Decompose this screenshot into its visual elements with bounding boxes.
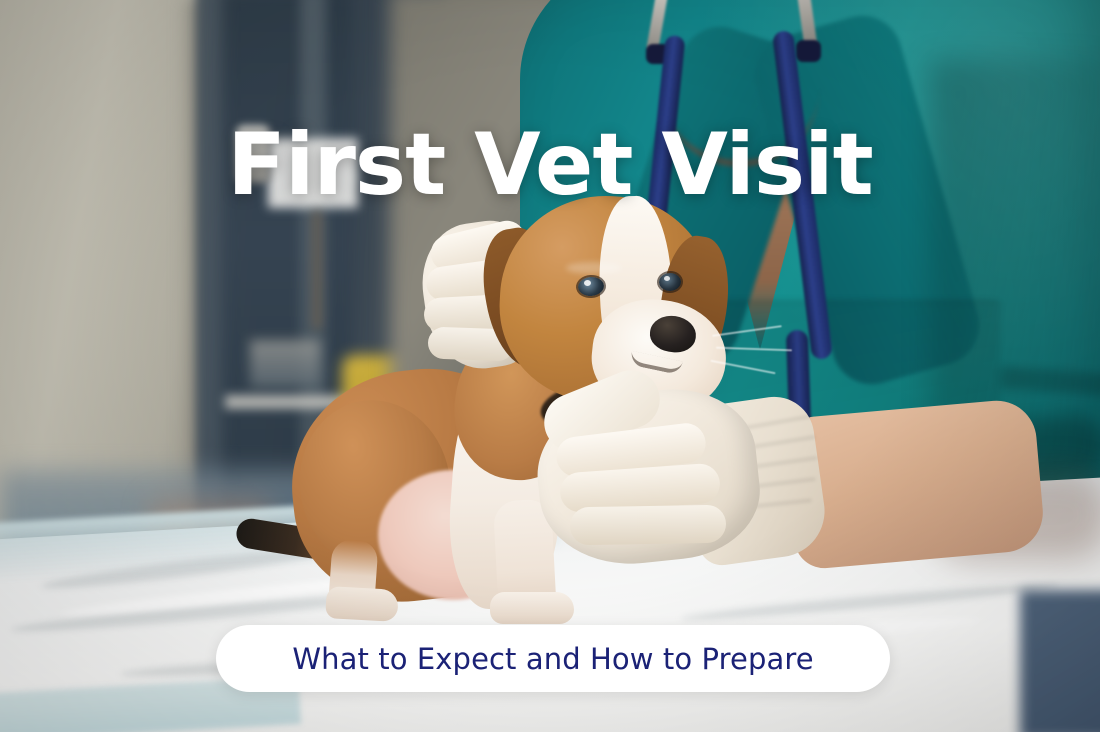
wall-hook xyxy=(312,210,322,330)
vet-forearm xyxy=(784,397,1046,570)
shelf-equipment xyxy=(250,340,320,388)
puppy-brow-highlight xyxy=(566,262,622,274)
puppy-paw-right xyxy=(490,592,574,624)
stethoscope-joint-right xyxy=(796,40,821,62)
puppy-eye-glint-left xyxy=(584,280,591,286)
vet-trousers xyxy=(1020,590,1100,732)
glove-finger xyxy=(570,505,727,546)
vet-visit-banner: First Vet Visit What to Expect and How t… xyxy=(0,0,1100,732)
subtitle-pill: What to Expect and How to Prepare xyxy=(216,625,890,692)
puppy-paw-left xyxy=(325,586,399,622)
subtitle-text: What to Expect and How to Prepare xyxy=(292,642,813,676)
page-title: First Vet Visit xyxy=(0,122,1100,208)
puppy-eye-glint-right xyxy=(664,276,670,281)
